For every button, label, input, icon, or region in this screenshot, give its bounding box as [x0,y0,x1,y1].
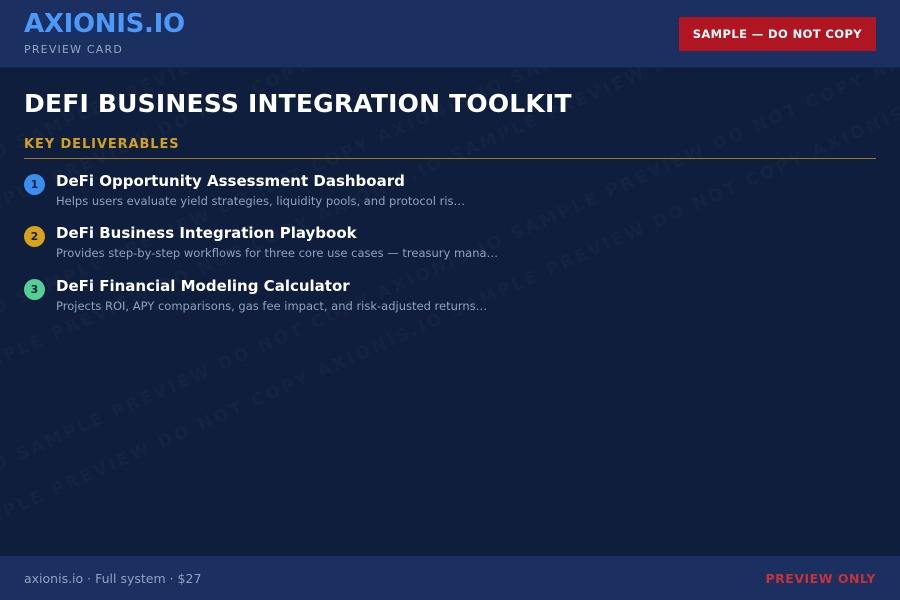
card-body: DEFI BUSINESS INTEGRATION TOOLKIT KEY DE… [0,68,900,556]
section-divider [24,158,876,159]
brand-block: AXIONIS.IO PREVIEW CARD [24,11,185,55]
list-item-text: DeFi Opportunity Assessment Dashboard He… [56,172,465,209]
list-item-text: DeFi Financial Modeling Calculator Proje… [56,277,487,314]
page-title: DEFI BUSINESS INTEGRATION TOOLKIT [24,90,876,119]
deliverables-list: 1 DeFi Opportunity Assessment Dashboard … [24,172,876,314]
card-header: AXIONIS.IO PREVIEW CARD SAMPLE — DO NOT … [0,0,900,68]
deliverable-title: DeFi Financial Modeling Calculator [56,277,487,296]
section-label-key-deliverables: KEY DELIVERABLES [24,137,876,152]
list-item: 3 DeFi Financial Modeling Calculator Pro… [24,277,876,314]
footer-meta: axionis.io · Full system · $27 [24,571,201,586]
deliverable-title: DeFi Business Integration Playbook [56,224,498,243]
list-item: 1 DeFi Opportunity Assessment Dashboard … [24,172,876,209]
deliverable-title: DeFi Opportunity Assessment Dashboard [56,172,465,191]
number-badge: 1 [24,174,45,195]
list-item-text: DeFi Business Integration Playbook Provi… [56,224,498,261]
card-footer: axionis.io · Full system · $27 PREVIEW O… [0,556,900,600]
brand-subtitle: PREVIEW CARD [24,43,185,56]
sample-do-not-copy-badge: SAMPLE — DO NOT COPY [679,17,876,51]
deliverable-description: Projects ROI, APY comparisons, gas fee i… [56,299,487,314]
number-badge: 2 [24,226,45,247]
number-badge: 3 [24,279,45,300]
preview-only-note: PREVIEW ONLY [766,571,877,586]
preview-card: AXIONIS.IO SAMPLE PREVIEW DO NOT COPY AX… [0,0,900,600]
brand-name: AXIONIS.IO [24,11,185,38]
list-item: 2 DeFi Business Integration Playbook Pro… [24,224,876,261]
deliverable-description: Helps users evaluate yield strategies, l… [56,194,465,209]
deliverable-description: Provides step-by-step workflows for thre… [56,246,498,261]
